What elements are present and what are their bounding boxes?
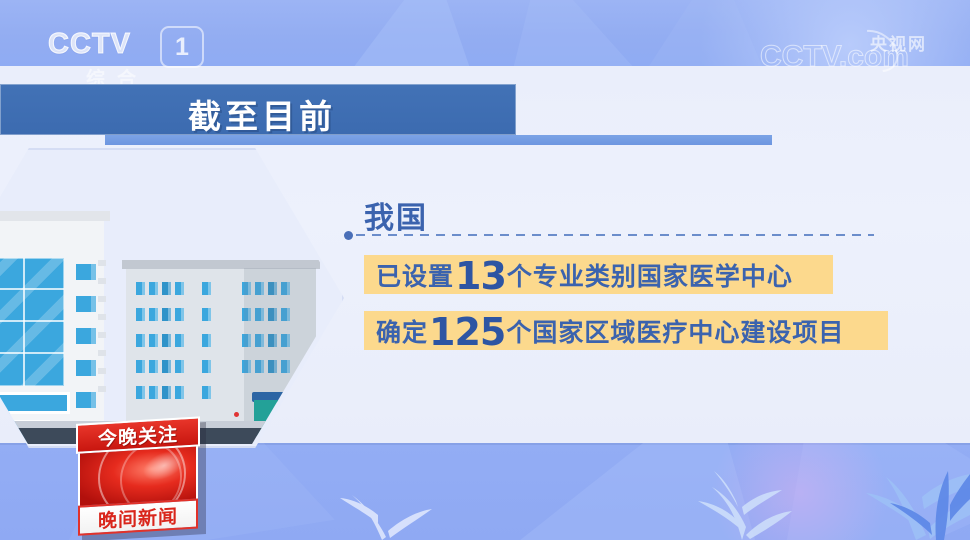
mezzanine-window-band <box>0 392 70 414</box>
cctv-com-watermark: CCTV.com 央视网 <box>758 26 958 78</box>
headline-banner-underbar <box>105 135 772 145</box>
curtain-wall <box>0 258 64 386</box>
lead-subject: 我国 <box>364 193 428 237</box>
hospital-illustration <box>0 148 340 444</box>
building-left-roof <box>0 211 110 221</box>
cctv-logo-text: CCTV <box>48 28 131 61</box>
program-badge-skew: 今晚关注 晚间新闻 <box>76 416 204 540</box>
fact-highlight-2: 确定 125 个国家区域医疗中心建设项目 <box>364 311 888 350</box>
headline-banner: 截至目前 <box>0 84 516 135</box>
divider-dashes <box>356 234 874 236</box>
program-badge: 今晚关注 晚间新闻 <box>76 420 204 536</box>
fact-1-prefix: 已设置 <box>376 257 454 293</box>
cctv1-channel-logo: CCTV 1 综合 <box>48 28 223 90</box>
fact-highlight-1: 已设置 13 个专业类别国家医学中心 <box>364 255 833 294</box>
fact-2-prefix: 确定 <box>376 313 428 349</box>
building-left-glass <box>0 220 104 428</box>
red-globe-icon <box>78 446 198 505</box>
entrance-block-shade <box>286 400 308 436</box>
fact-2-number: 125 <box>429 310 505 354</box>
page-title: 截至目前 <box>188 90 336 138</box>
watermark-chinese: 央视网 <box>870 30 927 55</box>
cctv-channel-number: 1 <box>160 26 204 68</box>
red-marker-icon <box>234 412 239 417</box>
badge-bottom-label: 晚间新闻 <box>98 501 178 533</box>
divider-dot-icon <box>344 231 353 240</box>
broadcast-screen: CCTV 1 综合 CCTV.com 央视网 截至目前 <box>0 0 970 540</box>
fact-1-number: 13 <box>455 254 506 298</box>
dashed-divider <box>344 234 874 237</box>
building-right <box>126 268 316 428</box>
badge-top-label: 今晚关注 <box>98 419 178 451</box>
fact-1-suffix: 个专业类别国家医学中心 <box>507 257 793 293</box>
fact-2-suffix: 个国家区域医疗中心建设项目 <box>506 313 844 349</box>
hexagon-clip <box>0 148 340 444</box>
